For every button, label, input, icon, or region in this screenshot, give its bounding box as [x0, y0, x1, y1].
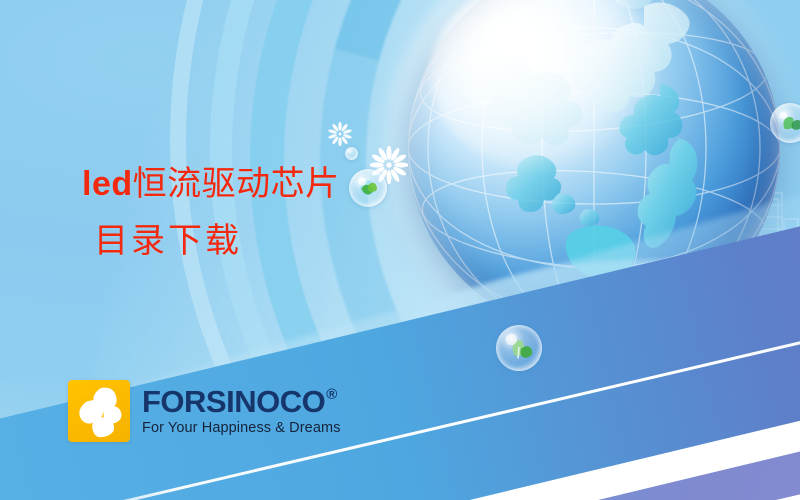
promo-banner: led恒流驱动芯片 目录下载 FORSINOCO® For Your Happi…	[0, 0, 800, 500]
brand-name: FORSINOCO®	[142, 386, 341, 417]
bubble-edge-icon	[770, 103, 800, 143]
brand-logo: FORSINOCO® For Your Happiness & Dreams	[68, 380, 341, 442]
four-petal-flower-icon	[68, 380, 130, 442]
bubble-plain-icon	[345, 147, 358, 160]
daisy-flower-icon	[328, 122, 352, 146]
logo-text-block: FORSINOCO® For Your Happiness & Dreams	[142, 386, 341, 436]
headline-latin: led	[82, 165, 133, 203]
registered-trademark-icon: ®	[326, 387, 337, 402]
headline-cjk: 恒流驱动芯片	[133, 165, 340, 203]
headline-line-2: 目录下载	[94, 221, 340, 262]
bubble-globe-icon	[349, 169, 387, 207]
bubble-leaf-icon	[496, 325, 542, 371]
brand-name-text: FORSINOCO	[142, 386, 325, 417]
headline: led恒流驱动芯片 目录下载	[82, 164, 340, 263]
brand-tagline: For Your Happiness & Dreams	[142, 420, 341, 436]
headline-line-1: led恒流驱动芯片	[82, 164, 340, 205]
